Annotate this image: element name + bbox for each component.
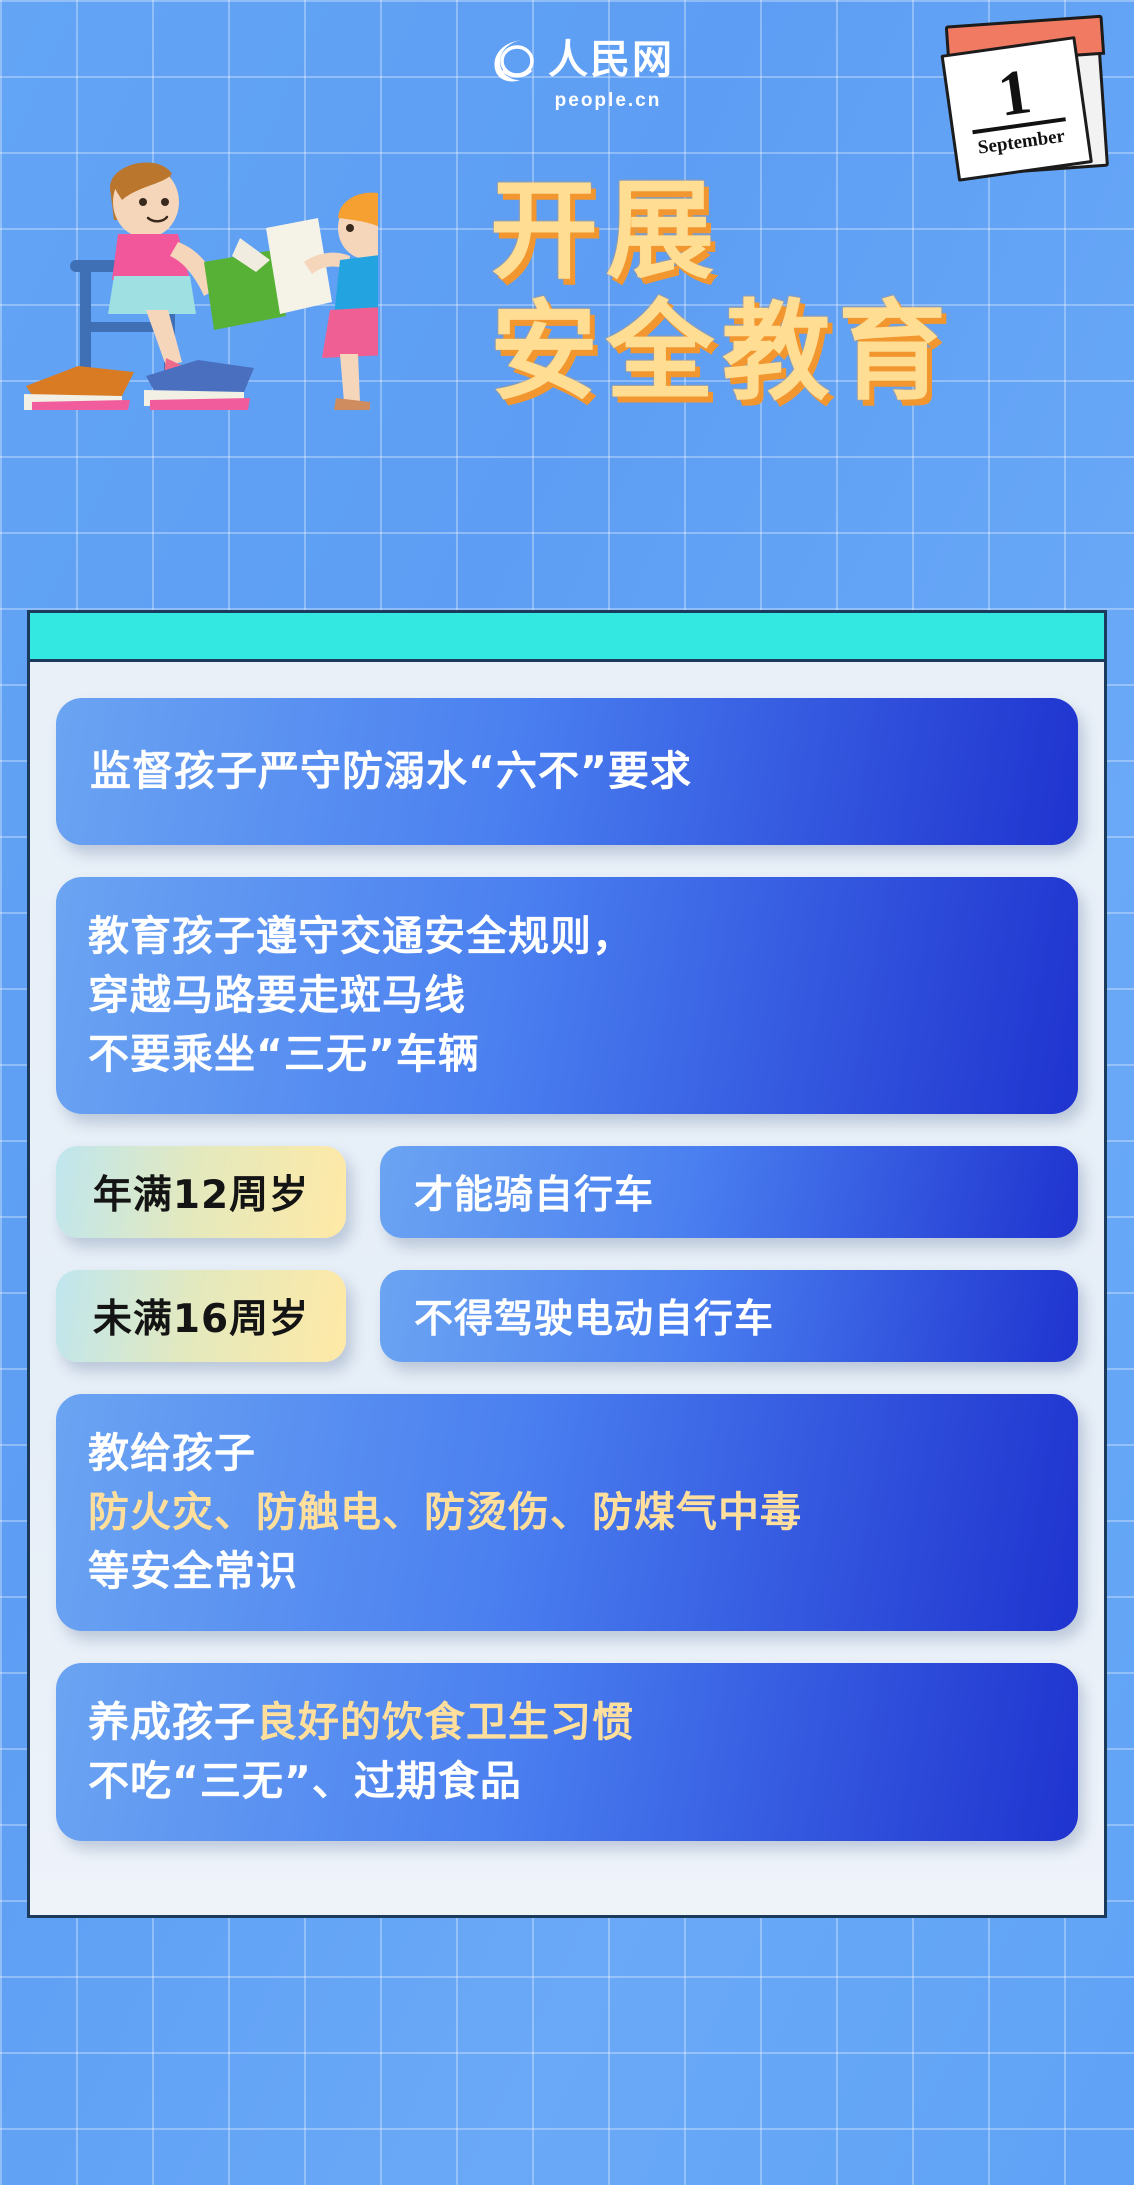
card-drowning-prevention[interactable]: 监督孩子严守防溺水“六不”要求	[56, 698, 1078, 845]
logo-row: 人民网	[486, 34, 674, 86]
children-reading-illustration	[18, 110, 378, 410]
pill-age-consequence[interactable]: 不得驾驶电动自行车	[380, 1270, 1078, 1362]
card-line: 教给孩子	[88, 1424, 1046, 1483]
poster-header: 人民网 people.cn 1 September	[0, 0, 1134, 580]
card-line: 等安全常识	[88, 1542, 1046, 1601]
panel-body: 监督孩子严守防溺水“六不”要求 教育孩子遵守交通安全规则， 穿越马路要走斑马线 …	[30, 662, 1104, 1915]
split-row-bicycle-age: 年满12周岁 才能骑自行车	[56, 1146, 1078, 1238]
card-line: 穿越马路要走斑马线	[88, 966, 1046, 1025]
title-line-2: 安全教育	[490, 293, 1090, 414]
pill-right-label: 不得驾驶电动自行车	[414, 1288, 774, 1344]
card-line-highlighted: 防火灾、防触电、防烫伤、防煤气中毒	[88, 1483, 1046, 1542]
child-left-shape	[108, 163, 218, 386]
pill-age-consequence[interactable]: 才能骑自行车	[380, 1146, 1078, 1238]
poster-root: 人民网 people.cn 1 September	[0, 0, 1134, 2185]
logo-wordmark-cn: 人民网	[548, 40, 674, 80]
card-food-hygiene[interactable]: 养成孩子良好的饮食卫生习惯 不吃“三无”、过期食品	[56, 1663, 1078, 1841]
crescent-globe-icon	[486, 34, 538, 86]
poster-title: 开展 安全教育	[490, 172, 1090, 414]
split-row-ebike-age: 未满16周岁 不得驾驶电动自行车	[56, 1270, 1078, 1362]
people-cn-logo: 人民网 people.cn	[455, 28, 705, 118]
card-line: 教育孩子遵守交通安全规则，	[88, 907, 1046, 966]
book-stack-left-shape	[24, 366, 134, 410]
card-line: 监督孩子严守防溺水“六不”要求	[90, 742, 1044, 801]
logo-wordmark-latin: people.cn	[555, 90, 662, 112]
card-line: 不吃“三无”、过期食品	[88, 1752, 1046, 1811]
pill-left-label: 年满12周岁	[93, 1164, 309, 1220]
book-stack-right-shape	[144, 360, 254, 410]
calendar-page: 1 September	[940, 36, 1092, 182]
card-line-mixed: 养成孩子良好的饮食卫生习惯	[88, 1693, 1046, 1752]
title-line-1: 开展	[490, 172, 1090, 293]
card-line: 不要乘坐“三无”车辆	[88, 1025, 1046, 1084]
card-line-highlight-part: 良好的饮食卫生习惯	[256, 1698, 634, 1746]
card-home-safety[interactable]: 教给孩子 防火灾、防触电、防烫伤、防煤气中毒 等安全常识	[56, 1394, 1078, 1631]
panel-accent-bar	[30, 613, 1104, 662]
calendar-day: 1	[995, 62, 1035, 123]
pill-left-label: 未满16周岁	[93, 1288, 309, 1344]
card-line-plain-part: 养成孩子	[88, 1698, 256, 1746]
pill-right-label: 才能骑自行车	[414, 1164, 654, 1220]
card-traffic-safety[interactable]: 教育孩子遵守交通安全规则， 穿越马路要走斑马线 不要乘坐“三无”车辆	[56, 877, 1078, 1114]
calendar-icon: 1 September	[949, 19, 1109, 177]
content-panel: 监督孩子严守防溺水“六不”要求 教育孩子遵守交通安全规则， 穿越马路要走斑马线 …	[27, 610, 1107, 1918]
pill-age-condition[interactable]: 年满12周岁	[56, 1146, 346, 1238]
pill-age-condition[interactable]: 未满16周岁	[56, 1270, 346, 1362]
